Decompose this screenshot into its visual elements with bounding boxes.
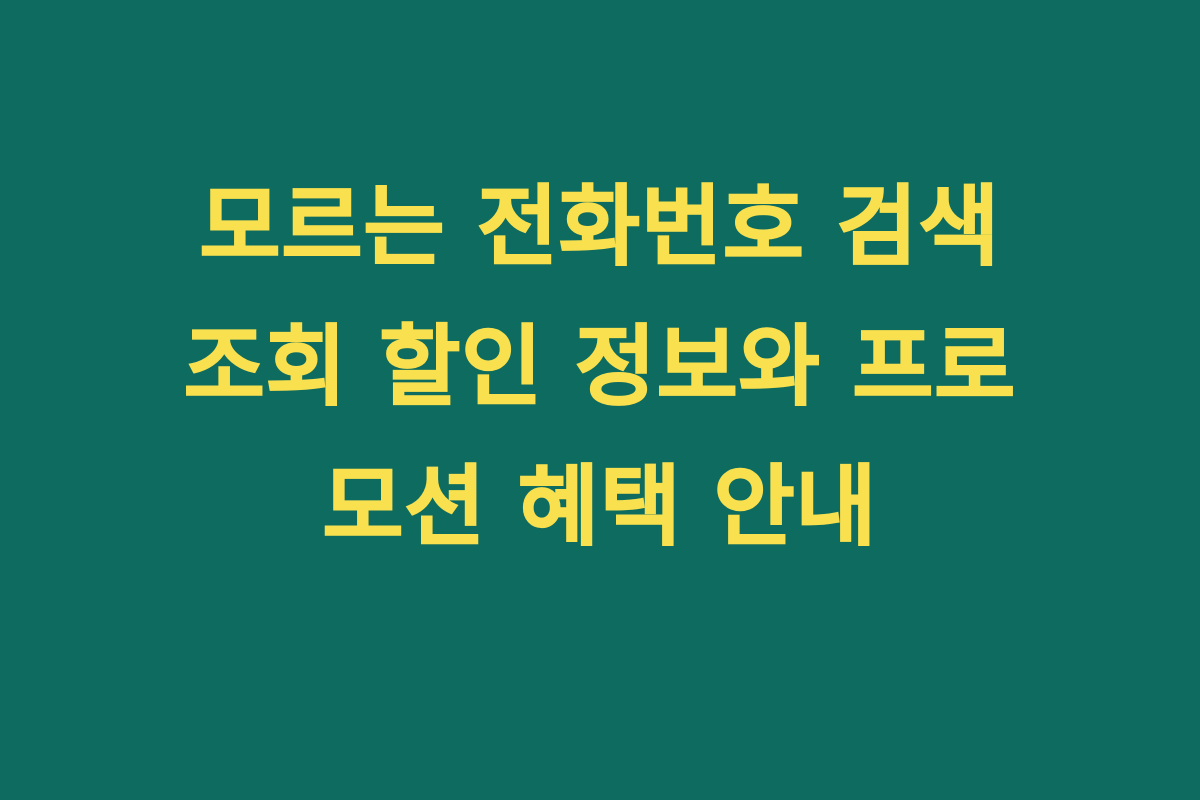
headline-line-3: 모션 혜택 안내	[0, 437, 1200, 577]
headline-line-1: 모르는 전화번호 검색	[0, 157, 1200, 297]
headline-line-2: 조회 할인 정보와 프로	[0, 297, 1200, 437]
page-title: 모르는 전화번호 검색 조회 할인 정보와 프로 모션 혜택 안내	[0, 157, 1200, 577]
banner-canvas: 모르는 전화번호 검색 조회 할인 정보와 프로 모션 혜택 안내	[0, 0, 1200, 800]
